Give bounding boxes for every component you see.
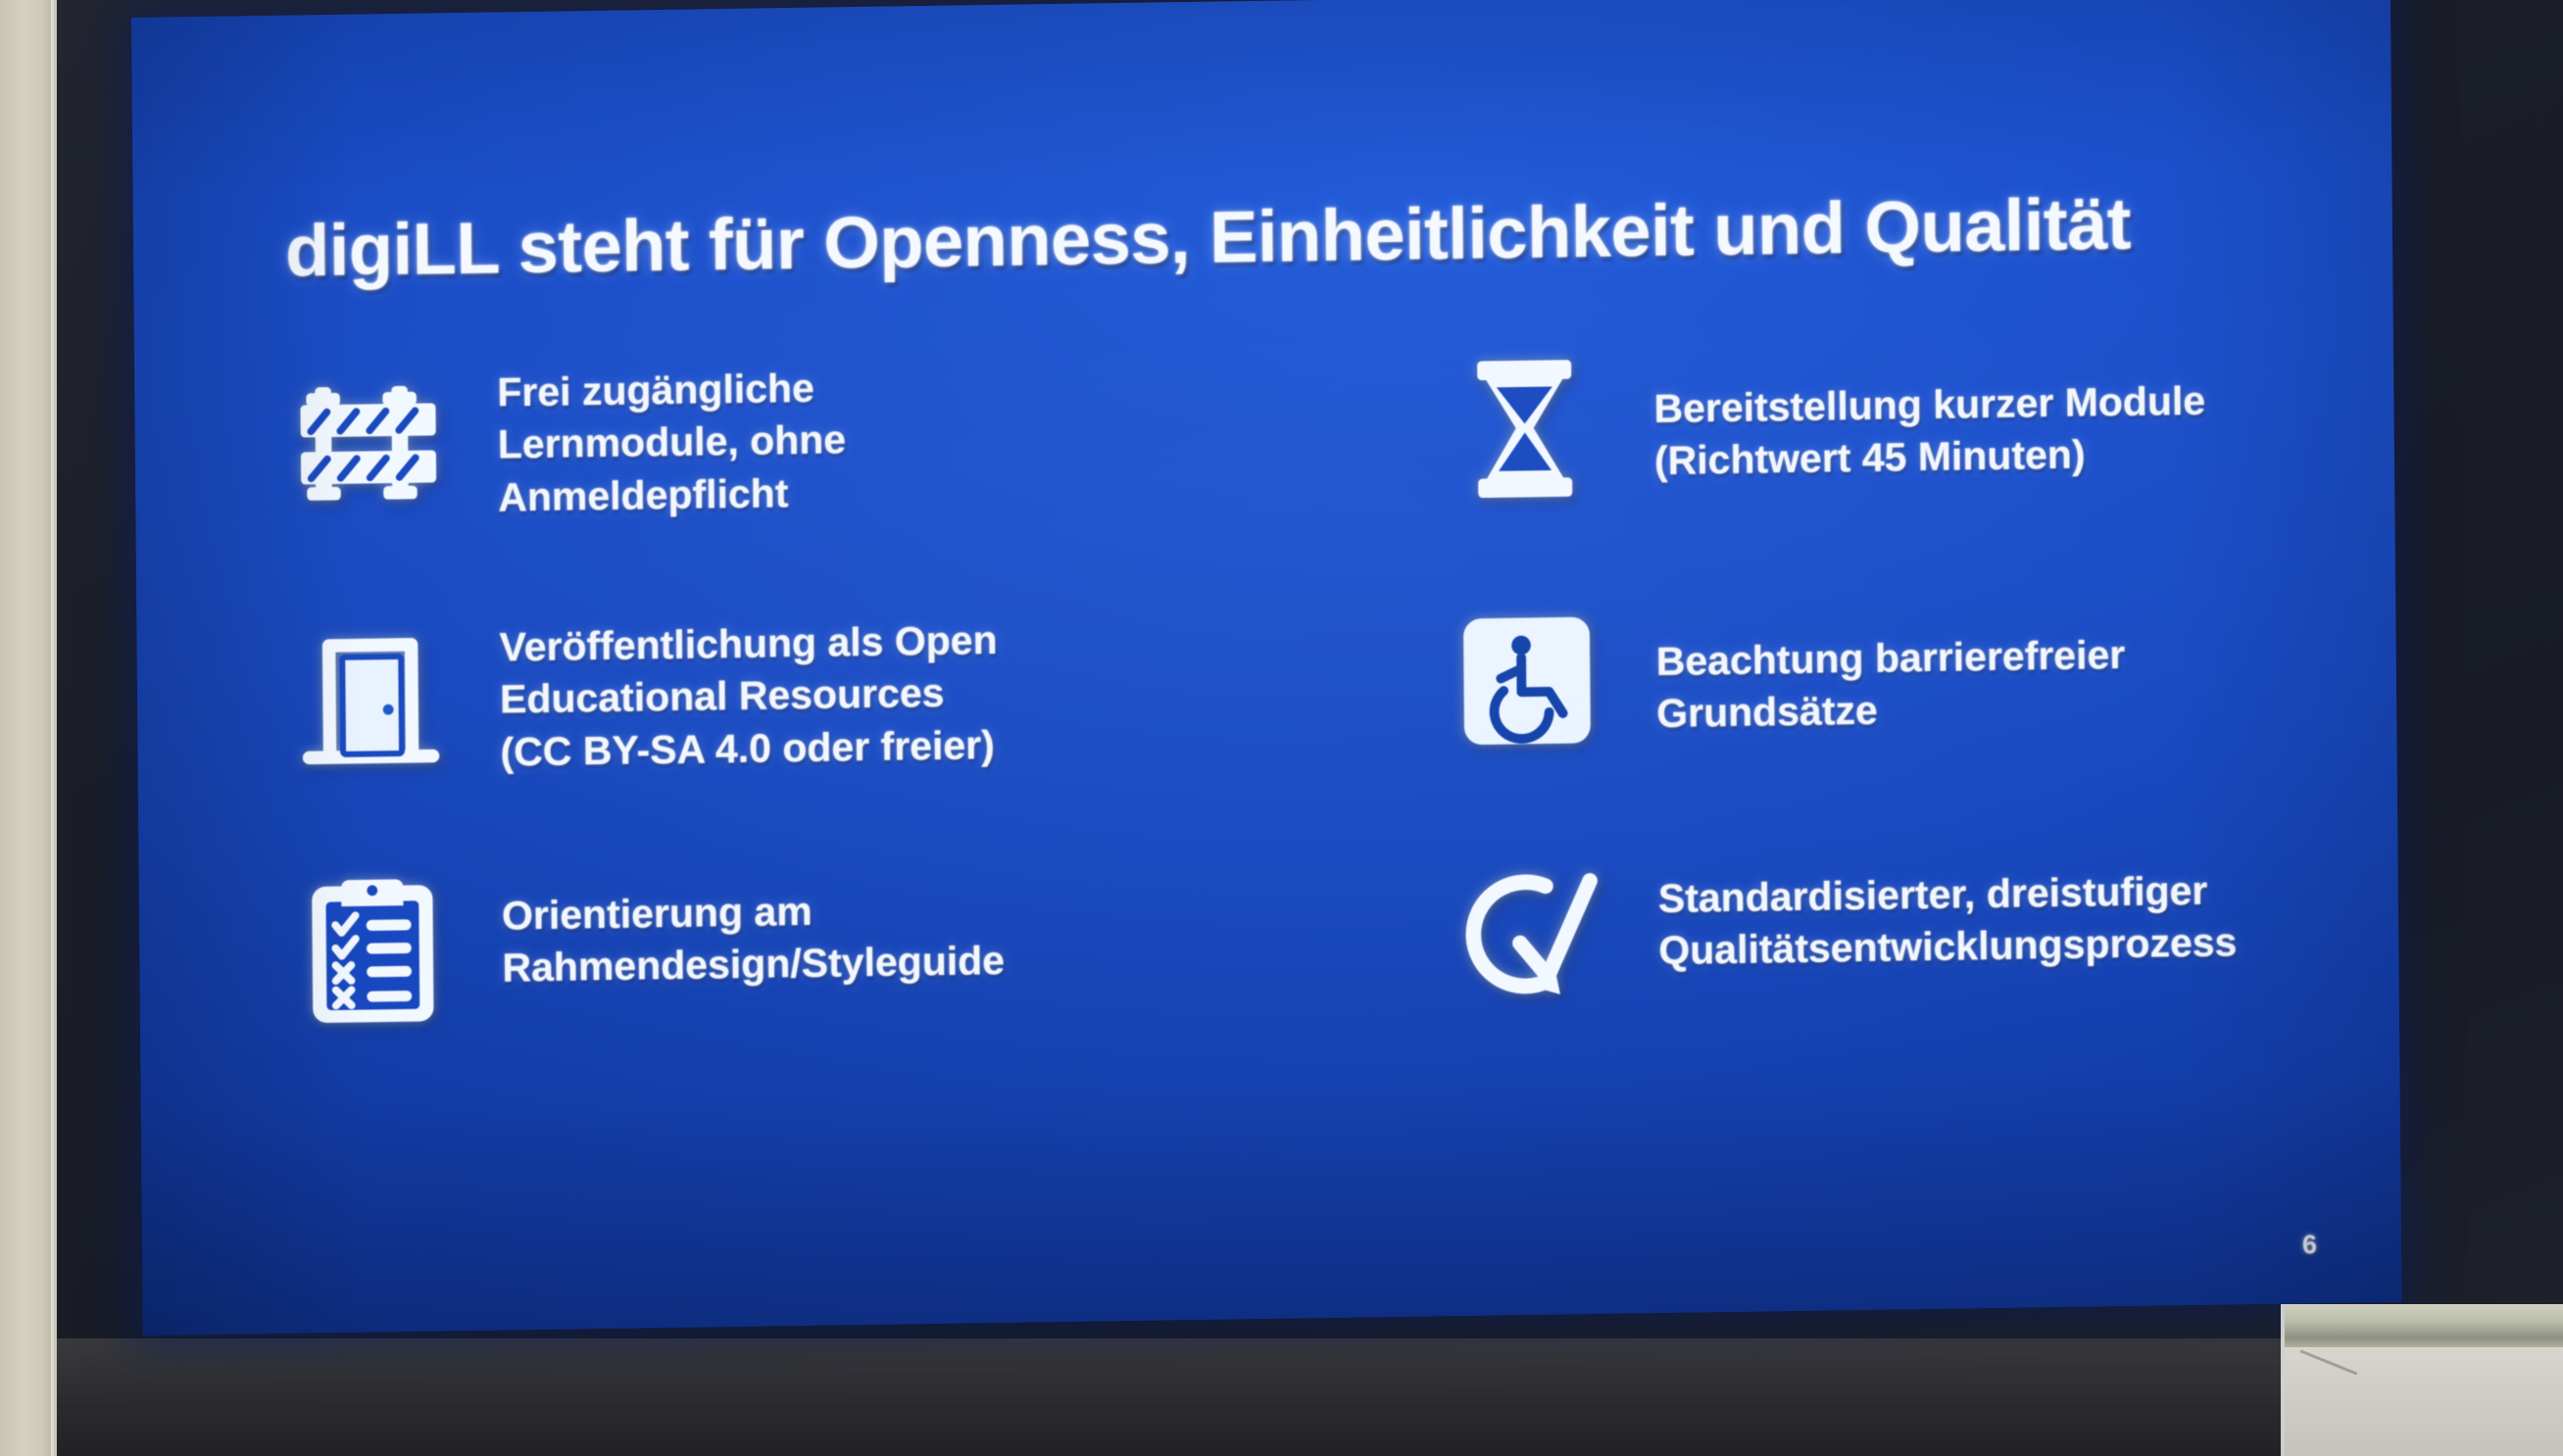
presentation-slide: digiLL steht für Openness, Einheitlichke… [131,0,2401,1335]
feature-item-short-modules: Bereitstellung kurzer Module (Richtwert … [1291,330,2302,598]
flipchart-paper [2285,1347,2563,1456]
feature-line: Lernmodule, ohne [498,414,847,472]
feature-line: Rahmendesign/Styleguide [502,935,1005,995]
flipchart-rail [2285,1304,2563,1349]
process-check-icon [1442,847,1616,1022]
feature-item-oer-publication: Veröffentlichung als Open Educational Re… [283,598,1295,865]
hourglass-icon [1438,341,1612,516]
feature-line: Frei zugängliche [497,362,846,419]
page-title: digiLL steht für Openness, Einheitlichke… [285,179,2295,292]
feature-text: Veröffentlichung als Open Educational Re… [499,603,998,778]
wheelchair-accessibility-icon [1440,594,1614,769]
flipchart-foreground [2277,1304,2563,1456]
feature-line: Veröffentlichung als Open [499,614,997,674]
room-scene: digiLL steht für Openness, Einheitlichke… [0,0,2563,1456]
feature-text: Orientierung am Rahmendesign/Styleguide [502,855,1006,995]
feature-item-accessibility: Beachtung barrierefreier Grundsätze [1293,583,2304,850]
feature-line: Educational Resources [500,666,998,726]
road-barrier-icon [281,358,456,533]
feature-line: Grundsätze [1656,681,2126,740]
feature-line: Bereitstellung kurzer Module [1653,375,2205,436]
feature-line: Orientierung am [502,883,1005,943]
feature-line: (CC BY-SA 4.0 oder freier) [500,719,998,779]
feature-grid: Frei zugängliche Lernmodule, ohne Anmeld… [281,330,2307,1119]
wall-left [0,0,55,1456]
feature-text: Frei zugängliche Lernmodule, ohne Anmeld… [497,352,847,523]
feature-line: Qualitätsentwicklungsprozess [1658,917,2238,978]
feature-text: Beachtung barrierefreier Grundsätze [1655,586,2126,741]
wall-bottom [57,1338,2563,1456]
feature-text: Standardisierter, dreistufiger Qualitäts… [1657,837,2237,977]
feature-line: Anmeldepflicht [498,466,847,524]
feature-line: Beachtung barrierefreier [1656,629,2126,688]
feature-item-quality-process: Standardisierter, dreistufiger Qualitäts… [1295,836,2306,1103]
feature-line: (Richtwert 45 Minuten) [1654,427,2206,488]
feature-item-styleguide: Orientierung am Rahmendesign/Styleguide [286,850,1298,1118]
open-door-icon [283,610,458,786]
clipboard-checklist-icon [286,863,461,1039]
feature-item-free-access: Frei zugängliche Lernmodule, ohne Anmeld… [281,345,1293,612]
slide-number: 6 [2302,1230,2317,1260]
feature-line: Standardisierter, dreistufiger [1658,864,2238,925]
feature-text: Bereitstellung kurzer Module (Richtwert … [1653,332,2206,488]
